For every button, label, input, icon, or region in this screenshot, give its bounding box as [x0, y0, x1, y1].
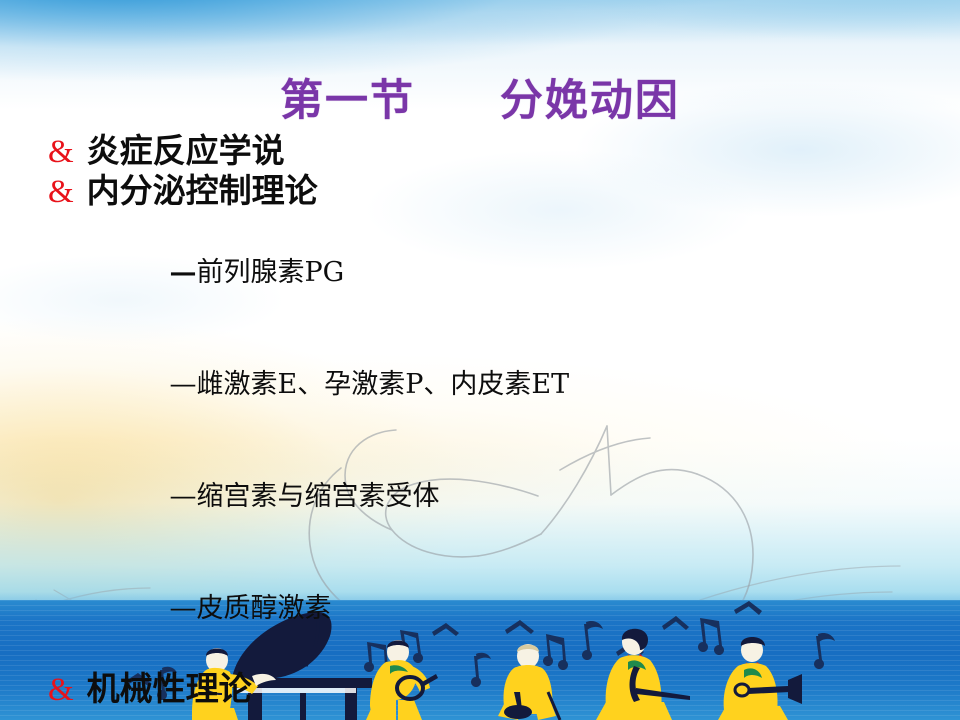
subitem-uterine-enlargement[interactable]: —子宫增大、胎儿成熟	[0, 710, 960, 720]
slide-title: 第一节 分娩动因	[0, 66, 960, 128]
slide-body: & 炎症反应学说 & 内分泌控制理论 —前列腺素PG —雌激素E、孕激素P、内皮…	[0, 132, 960, 720]
ampersand-bullet-icon: &	[48, 670, 74, 707]
subitem-label: 皮质醇激素	[197, 593, 332, 624]
subitem-prostaglandin[interactable]: —前列腺素PG	[0, 217, 960, 329]
subitem-estrogen-progesterone-endothelin[interactable]: —雌激素E、孕激素P、内皮素ET	[0, 329, 960, 441]
subitem-label: 缩宫素与缩宫素受体	[197, 481, 440, 512]
bullet-label-inflammation: 炎症反应学说	[87, 132, 285, 170]
bullet-item-mechanical[interactable]: & 机械性理论	[0, 670, 960, 708]
subitem-label: 雌激素E、孕激素P、内皮素ET	[197, 369, 570, 400]
ampersand-bullet-icon: &	[48, 132, 74, 169]
ampersand-bullet-icon: &	[48, 172, 74, 209]
dash-marker: —	[170, 257, 197, 288]
subitem-oxytocin-receptor[interactable]: —缩宫素与缩宫素受体	[0, 441, 960, 553]
bullet-label-endocrine: 内分泌控制理论	[87, 172, 318, 210]
bullet-item-inflammation[interactable]: & 炎症反应学说	[0, 132, 960, 170]
bullet-item-endocrine[interactable]: & 内分泌控制理论	[0, 172, 960, 210]
slide-canvas: 第一节 分娩动因 & 炎症反应学说 & 内分泌控制理论 —前列腺素PG —雌激素…	[0, 0, 960, 720]
bullet-label-mechanical: 机械性理论	[87, 670, 252, 708]
subitem-cortisol[interactable]: —皮质醇激素	[0, 552, 960, 664]
dash-marker: —	[170, 369, 197, 400]
subitem-label: 前列腺素PG	[197, 257, 345, 288]
dash-marker: —	[170, 481, 197, 512]
dash-marker: —	[170, 593, 197, 624]
